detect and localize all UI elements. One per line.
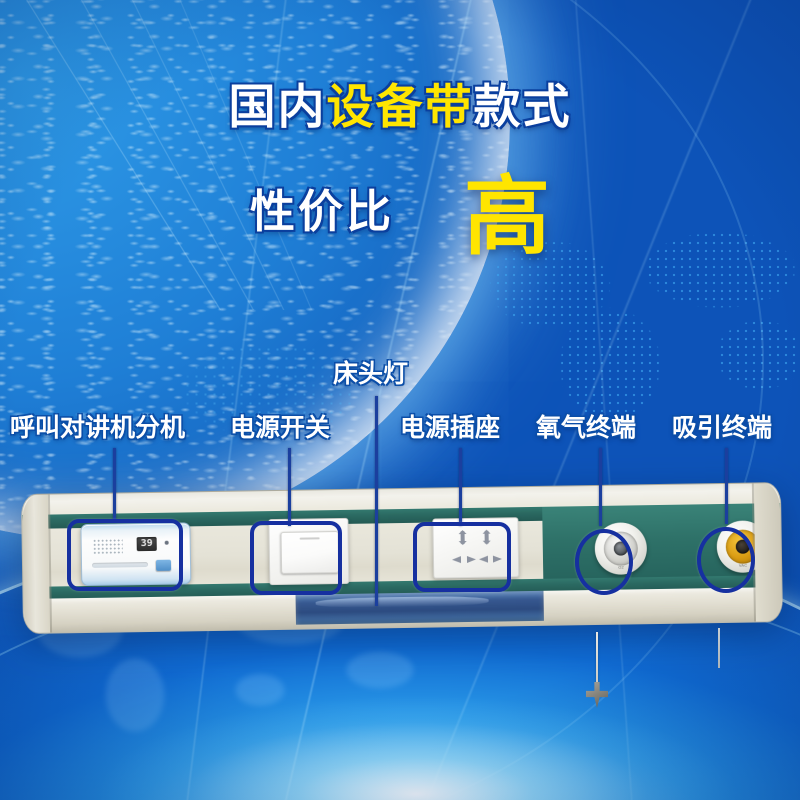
panel-end-cap-left (22, 495, 50, 634)
panel-end-cap-right (754, 483, 782, 623)
callout-label-suction: 吸引终端 (672, 415, 772, 440)
callout-label-intercom: 呼叫对讲机分机 (10, 415, 185, 440)
callout-label-switch: 电源开关 (230, 415, 330, 440)
callout-label-bedlamp: 床头灯 (333, 361, 408, 386)
leader-line-oxygen (599, 448, 602, 526)
promo-banner: 国内设备带款式 性价比 高 呼叫对讲机分机 电源开关 床头灯 电源插座 氧气终端… (0, 0, 800, 800)
headline-part-1: 国内 (229, 80, 327, 135)
headline-part-3: 款式 (474, 80, 572, 135)
secondary-cord (718, 628, 720, 668)
headline-block: 国内设备带款式 (0, 84, 800, 131)
callout-box-switch (250, 521, 342, 595)
callout-box-suction (697, 527, 755, 593)
headline-subtitle: 性价比 (250, 189, 394, 234)
headline-emphasis-word: 高 (464, 174, 550, 260)
callout-label-socket: 电源插座 (400, 415, 500, 440)
callout-label-oxygen: 氧气终端 (536, 415, 636, 440)
headline-block-2: 性价比 高 (0, 168, 800, 254)
callout-box-intercom (67, 519, 183, 591)
leader-line-bedlamp (375, 396, 378, 606)
headline-part-2: 设备带 (327, 80, 474, 135)
bedside-lamp-strip[interactable] (296, 591, 544, 625)
leader-line-intercom (113, 448, 116, 522)
pull-cord[interactable] (596, 632, 598, 688)
leader-line-suction (725, 448, 728, 524)
headline-line-1: 国内设备带款式 (0, 84, 800, 131)
callout-box-socket (413, 522, 511, 592)
leader-line-socket (459, 448, 462, 526)
leader-line-switch (288, 448, 291, 526)
callout-box-oxygen (575, 529, 633, 595)
